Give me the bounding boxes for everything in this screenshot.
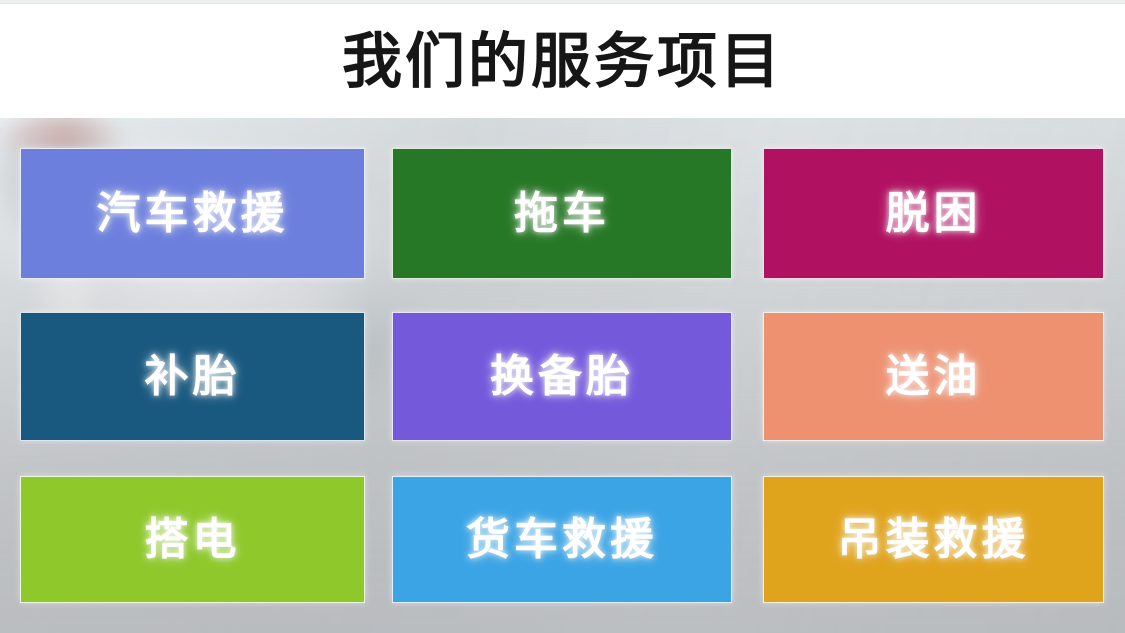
service-tile-label: 吊装救援 — [838, 518, 1030, 562]
service-tile-label: 补胎 — [145, 355, 241, 399]
service-tile-label: 汽车救援 — [97, 192, 289, 236]
service-tile-jump-start[interactable]: 搭电 — [20, 476, 365, 603]
service-tile-label: 搭电 — [145, 518, 241, 562]
service-tile-truck-rescue[interactable]: 货车救援 — [392, 476, 732, 603]
service-tile-tire-repair[interactable]: 补胎 — [20, 312, 365, 441]
service-tile-label: 拖车 — [514, 192, 610, 236]
service-tile-crane-rescue[interactable]: 吊装救援 — [763, 476, 1104, 603]
service-tile-fuel-delivery[interactable]: 送油 — [763, 312, 1104, 441]
service-tile-label: 换备胎 — [490, 355, 634, 399]
service-tile-towing[interactable]: 拖车 — [392, 148, 732, 279]
service-tile-car-rescue[interactable]: 汽车救援 — [20, 148, 365, 279]
service-tile-label: 货车救援 — [466, 518, 658, 562]
service-tile-spare-tire-change[interactable]: 换备胎 — [392, 312, 732, 441]
service-grid: 汽车救援 拖车 脱困 补胎 换备胎 送油 搭电 货车救援 吊装救援 — [0, 0, 1125, 633]
service-tile-label: 送油 — [886, 355, 982, 399]
service-tile-label: 脱困 — [886, 192, 982, 236]
service-tile-extrication[interactable]: 脱困 — [763, 148, 1104, 279]
